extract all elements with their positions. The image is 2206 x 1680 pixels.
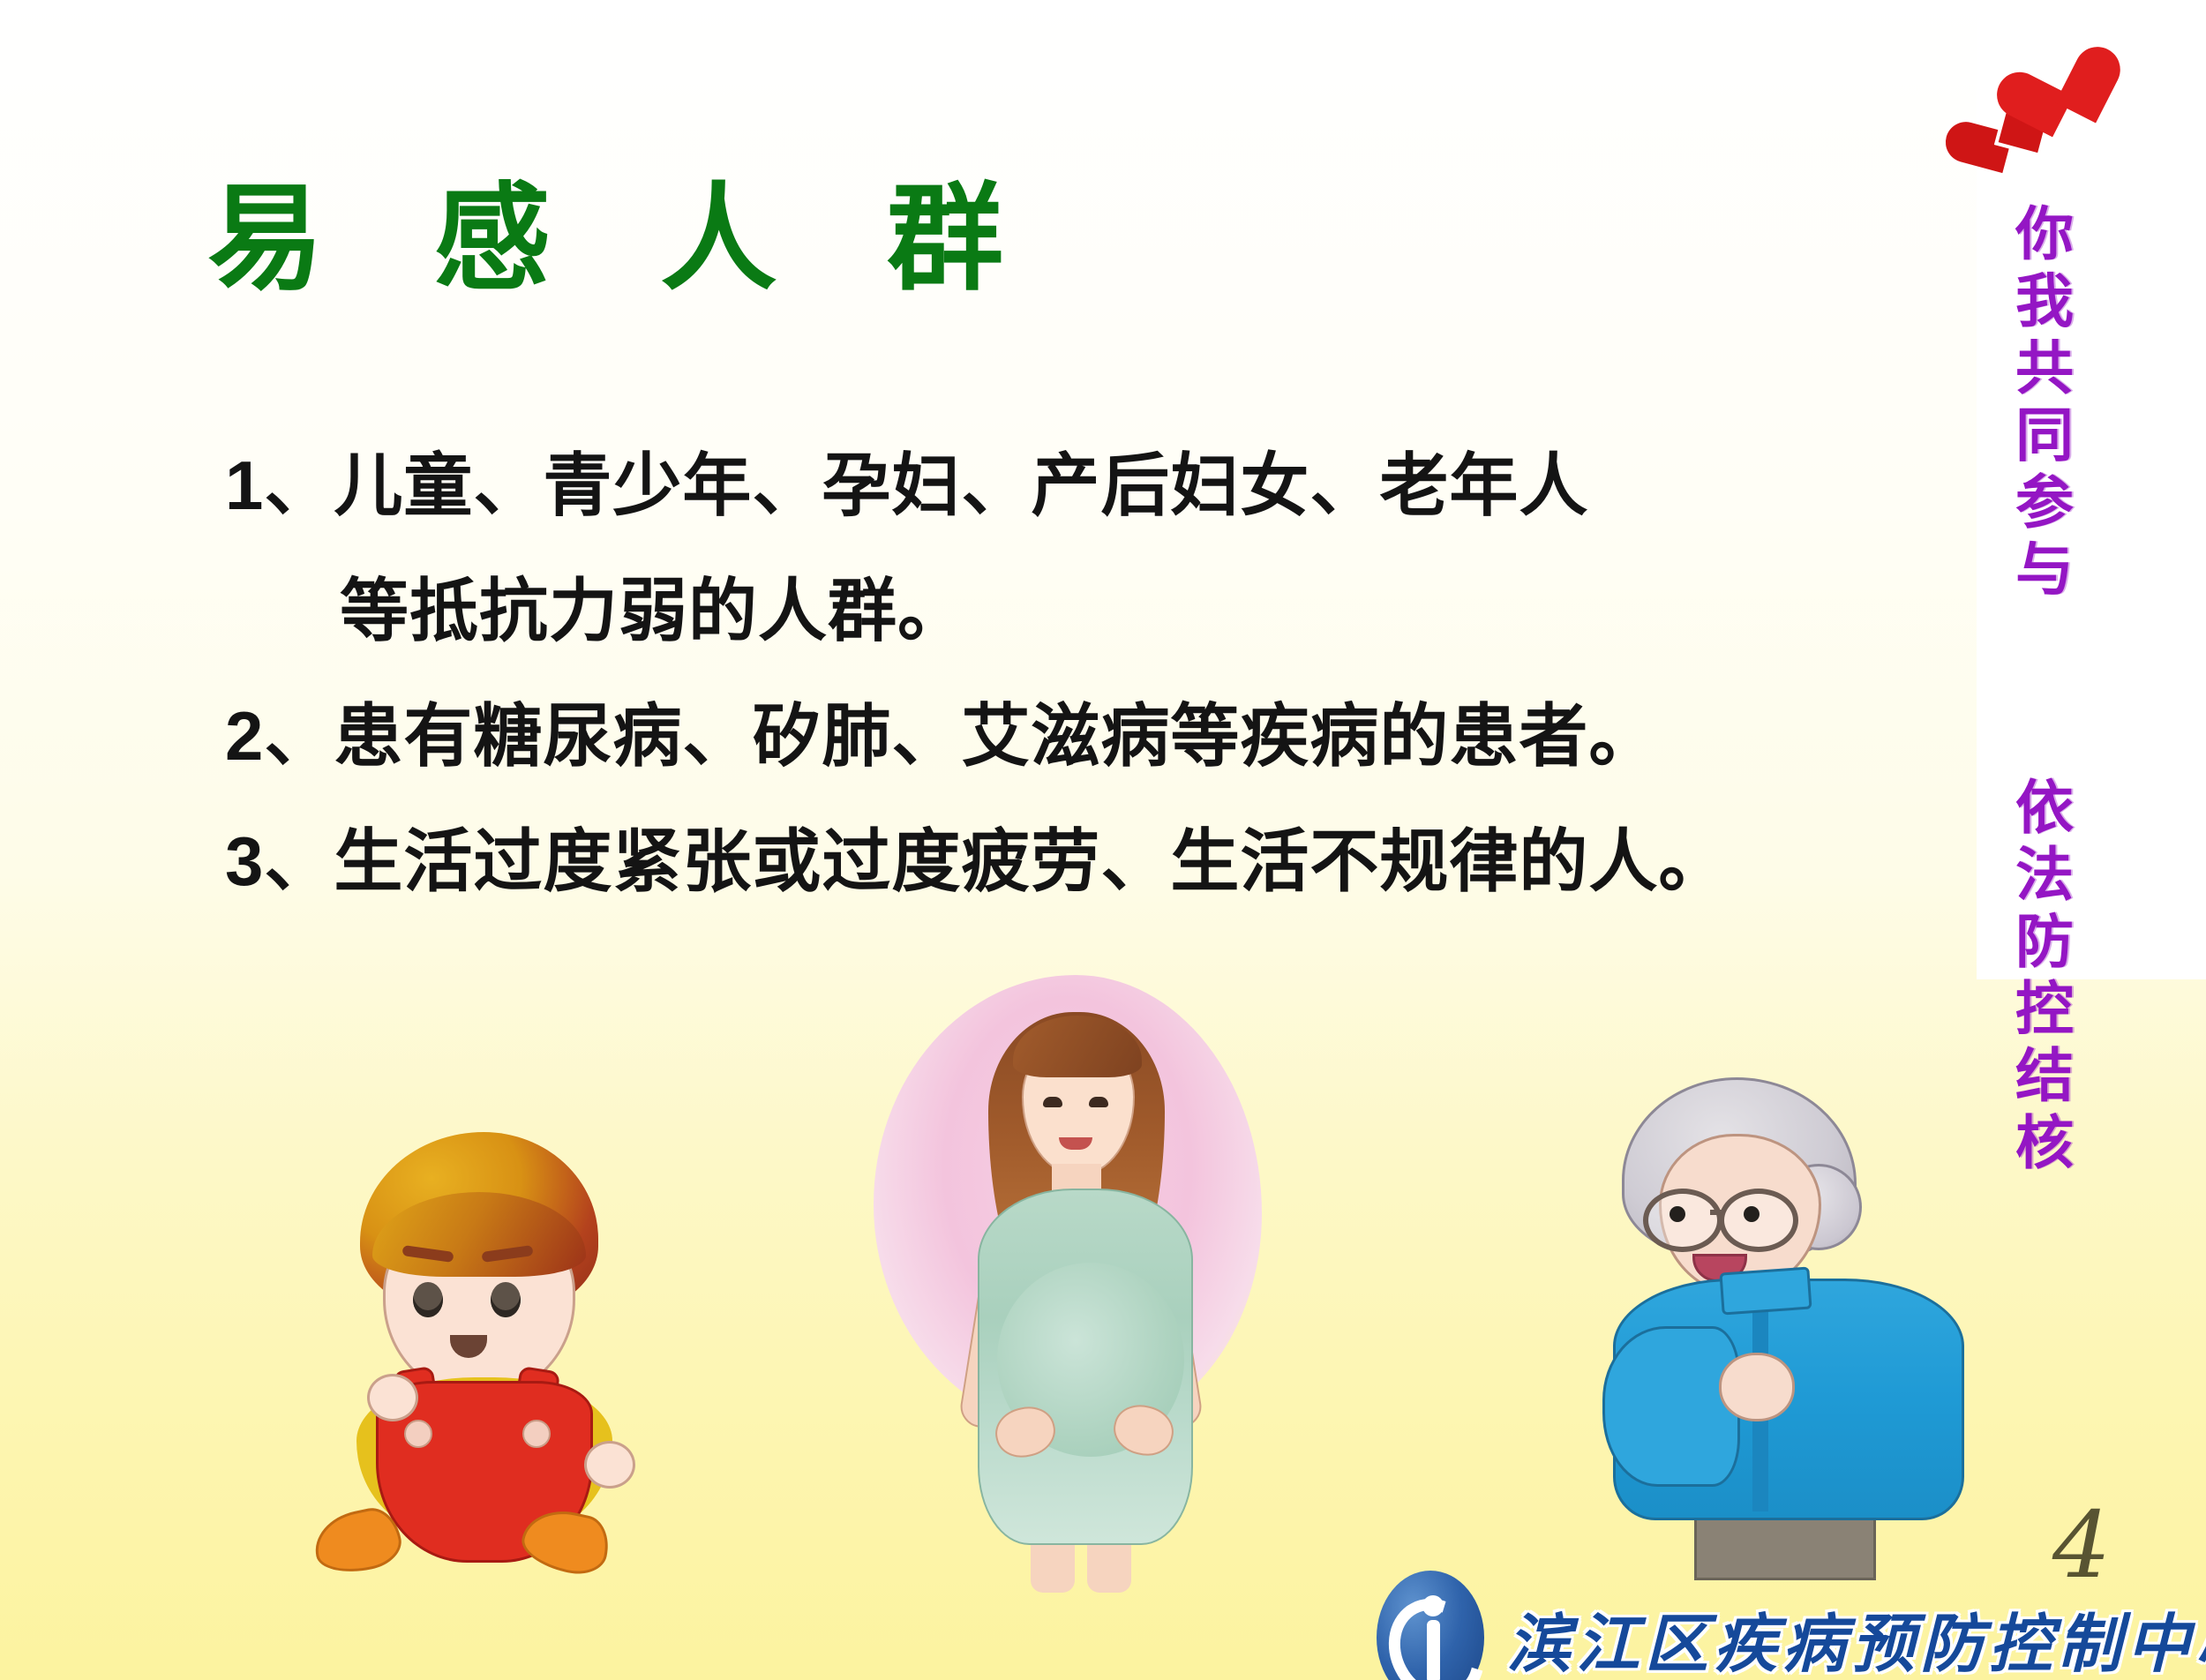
slogan-column-1: 你我共同参与 <box>1998 203 2082 605</box>
glasses-lens-left-icon <box>1643 1189 1722 1252</box>
elder-hand <box>1719 1353 1795 1421</box>
elder-collar <box>1719 1267 1812 1316</box>
cdc-logo-body <box>1427 1620 1440 1680</box>
body-line-3: 2、患有糖尿病、矽肺、艾滋病等疾病的患者。 <box>225 674 1902 799</box>
child-button-left <box>404 1420 432 1448</box>
double-heart-icon <box>1959 55 2135 187</box>
body-line-2: 等抵抗力弱的人群。 <box>225 549 1902 674</box>
glasses-bridge-icon <box>1710 1210 1724 1215</box>
cdc-logo-head <box>1422 1595 1444 1616</box>
glasses-lens-right-icon <box>1719 1189 1798 1252</box>
slide-canvas: 易 感 人 群 1、儿童、青少年、孕妇、产后妇女、老年人 等抵抗力弱的人群。 2… <box>0 0 2206 1680</box>
woman-eye-left <box>1043 1097 1062 1107</box>
slogan-column-2: 依法防控结核 <box>1998 776 2082 1179</box>
body-text-block: 1、儿童、青少年、孕妇、产后妇女、老年人 等抵抗力弱的人群。 2、患有糖尿病、矽… <box>225 424 1902 925</box>
footer-logo-bar: 滨江区疾病预防控制中心 <box>1377 1571 2206 1680</box>
body-line-4: 3、生活过度紧张或过度疲劳、生活不规律的人。 <box>225 799 1902 925</box>
organization-name: 滨江区疾病预防控制中心 <box>1507 1592 2206 1680</box>
woman-eye-right <box>1089 1097 1108 1107</box>
cdc-logo-icon <box>1377 1571 1484 1680</box>
page-title: 易 感 人 群 <box>207 176 1042 303</box>
child-hand-left <box>367 1374 418 1421</box>
child-button-right <box>522 1420 551 1448</box>
elder-eye-left <box>1670 1206 1685 1222</box>
elder-arm <box>1602 1326 1740 1487</box>
pregnant-woman-illustration <box>865 966 1288 1584</box>
child-eye-right <box>491 1282 521 1317</box>
elder-eye-right <box>1744 1206 1760 1222</box>
child-hand-right <box>584 1441 635 1489</box>
elderly-person-illustration <box>1588 1072 1959 1575</box>
side-banner: 你我共同参与 依法防控结核 <box>1977 0 2206 979</box>
child-eye-left <box>413 1282 443 1317</box>
body-line-1: 1、儿童、青少年、孕妇、产后妇女、老年人 <box>225 424 1902 549</box>
child-illustration <box>291 1116 662 1584</box>
